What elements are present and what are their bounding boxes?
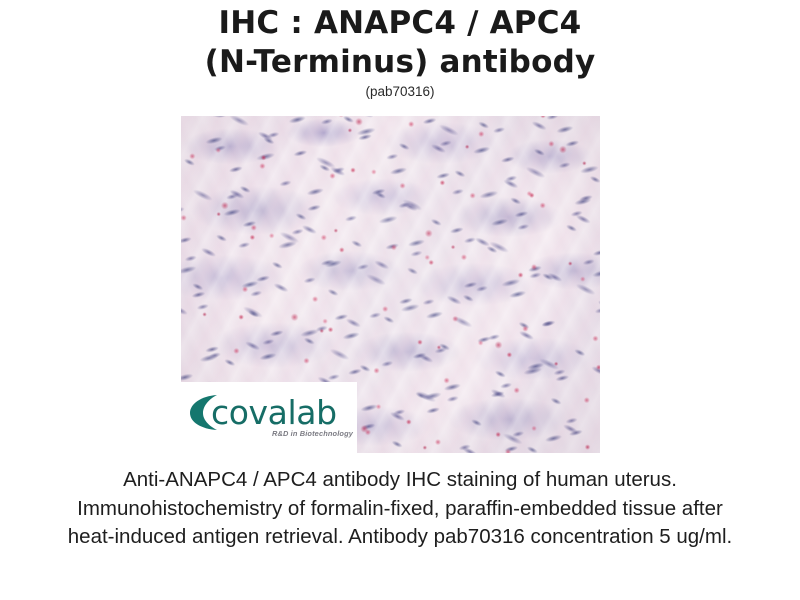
title-line-2: (N-Terminus) antibody <box>0 43 800 82</box>
catalog-number: (pab70316) <box>0 83 800 100</box>
page-title: IHC : ANAPC4 / APC4 (N-Terminus) antibod… <box>0 4 800 100</box>
covalab-wordmark-icon: covalab <box>187 390 353 434</box>
figure-caption: Anti-ANAPC4 / APC4 antibody IHC staining… <box>60 466 740 552</box>
ihc-figure-page: { "header": { "title_line1": "IHC : ANAP… <box>0 0 800 600</box>
covalab-logo: covalab R&D in Biotechnology <box>181 382 357 453</box>
title-line-1: IHC : ANAPC4 / APC4 <box>0 4 800 43</box>
covalab-text: covalab <box>211 393 337 432</box>
covalab-tagline: R&D in Biotechnology <box>269 429 353 438</box>
